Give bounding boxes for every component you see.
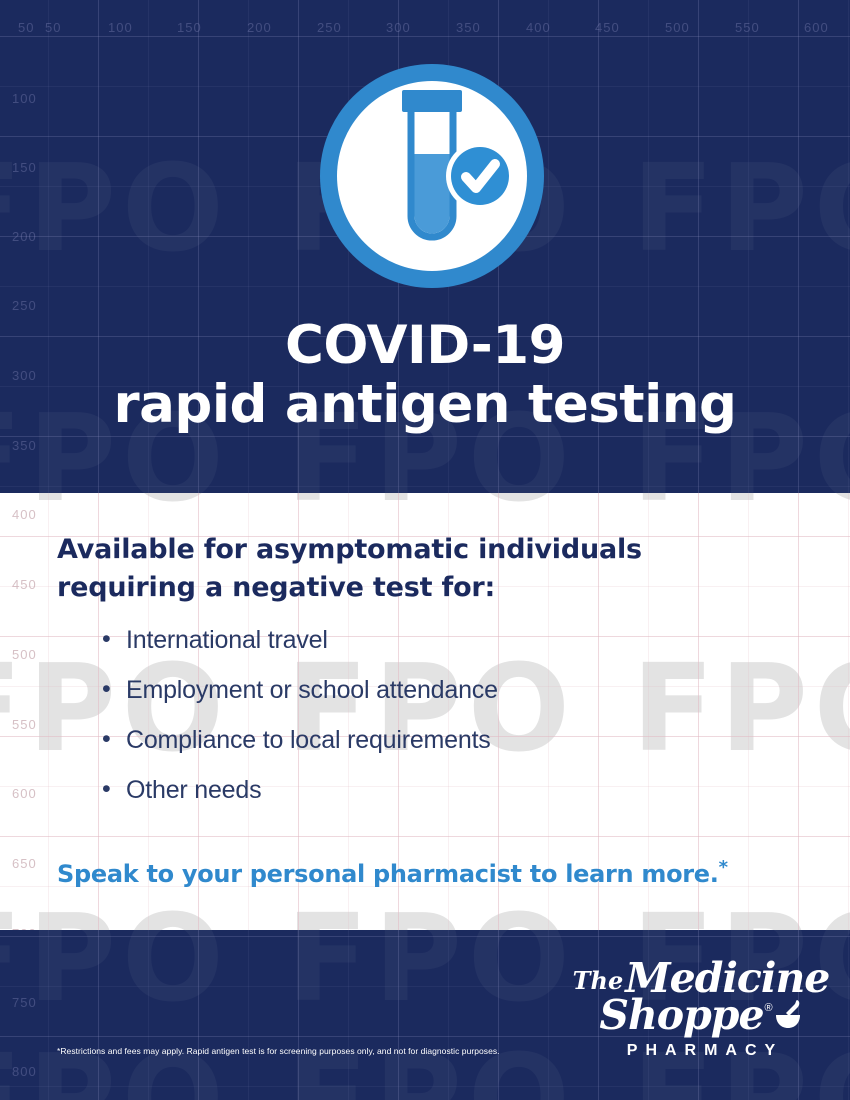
registered-mark: ® [765,1003,773,1014]
brand-the: The [573,969,624,993]
list-item: Employment or school attendance [100,678,800,703]
header-ruler-top: 50 50 100 150 200 250 300 350 400 450 50… [0,20,850,38]
call-to-action: Speak to your personal pharmacist to lea… [57,857,728,888]
medicine-shoppe-logo: The Medicine Shoppe ® PHARMACY [588,958,814,1060]
disclaimer-text: *Restrictions and fees may apply. Rapid … [57,1046,500,1056]
footnote-marker: * [719,857,728,878]
list-item: Other needs [100,778,800,803]
page-title-line2: rapid antigen testing [0,373,850,438]
list-item: International travel [100,628,800,653]
footer-ruler-left: 750 800 [12,930,56,1100]
list-item: Compliance to local requirements [100,728,800,753]
brand-line-two: Shoppe ® [588,995,814,1036]
lead-paragraph: Available for asymptomatic individuals r… [57,531,757,608]
mortar-pestle-icon [775,998,803,1034]
brand-pharmacy: PHARMACY [596,1042,814,1060]
poster-canvas: FPOFPOFPO FPOFPOFPO FPOFPOFPO FPOFPOFPO … [0,0,850,1100]
title-block: COVID-19 rapid antigen testing [0,318,850,438]
call-to-action-text: Speak to your personal pharmacist to lea… [57,860,719,888]
main-content: Available for asymptomatic individuals r… [0,493,850,930]
page-title-line1: COVID-19 [0,318,850,373]
test-tube-check-icon [314,58,550,294]
brand-shoppe: Shoppe [599,995,763,1036]
eligibility-list: International travel Employment or schoo… [100,628,800,828]
